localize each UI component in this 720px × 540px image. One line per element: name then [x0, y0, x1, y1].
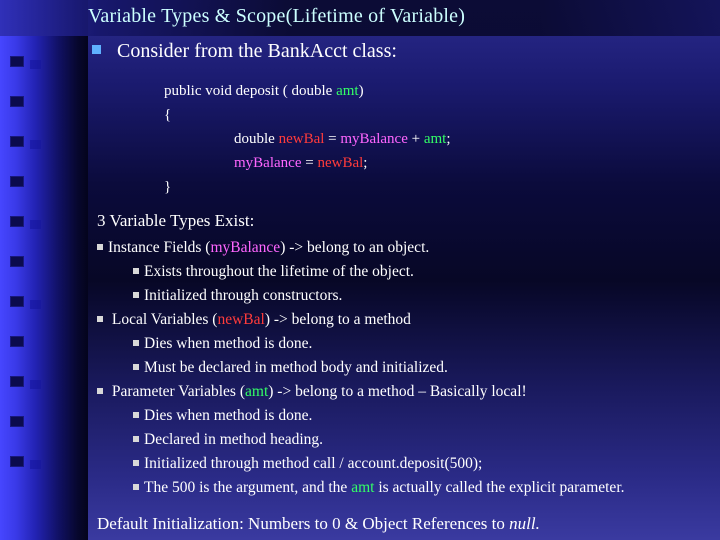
- code-param-amt: amt: [424, 131, 447, 147]
- highlight-amt: amt: [351, 479, 374, 496]
- section-heading: 3 Variable Types Exist:: [97, 211, 254, 231]
- list-item: Local Variables (newBal) -> belong to a …: [97, 311, 411, 329]
- bullet-square-icon: [92, 45, 101, 54]
- bullet-dot-icon: [133, 484, 139, 490]
- list-item: Dies when method is done.: [133, 335, 312, 353]
- highlight-newbal: newBal: [217, 311, 264, 328]
- main-bullet: Consider from the BankAcct class:: [92, 40, 397, 63]
- highlight-mybalance: myBalance: [210, 239, 280, 256]
- list-item: Dies when method is done.: [133, 407, 312, 425]
- code-line-5: }: [164, 179, 171, 196]
- slide: Variable Types & Scope(Lifetime of Varia…: [0, 0, 720, 540]
- list-item: Declared in method heading.: [133, 431, 323, 449]
- slide-body: Consider from the BankAcct class: public…: [0, 0, 720, 540]
- bullet-dot-icon: [133, 412, 139, 418]
- bullet-dot-icon: [133, 364, 139, 370]
- list-item: Initialized through method call / accoun…: [133, 455, 482, 473]
- bullet-dot-icon: [97, 316, 103, 322]
- bullet-dot-icon: [133, 340, 139, 346]
- bullet-dot-icon: [133, 292, 139, 298]
- code-line-4: myBalance = newBal;: [234, 155, 367, 172]
- list-item: Instance Fields (myBalance) -> belong to…: [97, 239, 429, 257]
- code-line-2: {: [164, 107, 171, 124]
- code-line-3: double newBal = myBalance + amt;: [234, 131, 451, 148]
- bullet-dot-icon: [133, 460, 139, 466]
- footer-null-keyword: null.: [509, 514, 540, 533]
- bullet-dot-icon: [97, 244, 103, 250]
- code-local-newbal: newBal: [279, 131, 325, 147]
- main-bullet-label: Consider from the BankAcct class:: [117, 40, 397, 62]
- code-field-mybalance: myBalance: [340, 131, 407, 147]
- list-item: Parameter Variables (amt) -> belong to a…: [97, 383, 527, 401]
- code-field-mybalance: myBalance: [234, 155, 301, 171]
- list-item: The 500 is the argument, and the amt is …: [133, 479, 625, 497]
- highlight-amt: amt: [245, 383, 268, 400]
- code-local-newbal: newBal: [317, 155, 363, 171]
- footer-note: Default Initialization: Numbers to 0 & O…: [97, 514, 540, 534]
- list-item: Initialized through constructors.: [133, 287, 342, 305]
- code-line-1: public void deposit ( double amt): [164, 83, 364, 100]
- bullet-dot-icon: [97, 388, 103, 394]
- code-param-amt: amt: [336, 83, 359, 99]
- bullet-dot-icon: [133, 436, 139, 442]
- bullet-dot-icon: [133, 268, 139, 274]
- list-item: Must be declared in method body and init…: [133, 359, 448, 377]
- list-item: Exists throughout the lifetime of the ob…: [133, 263, 414, 281]
